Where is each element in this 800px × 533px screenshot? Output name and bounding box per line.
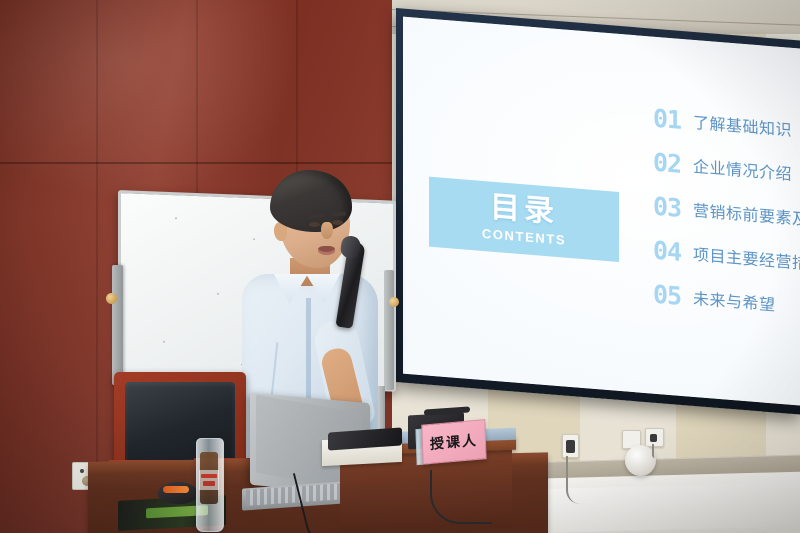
toc-number: 03 xyxy=(653,193,693,221)
mouth xyxy=(318,246,335,255)
slide-surface[interactable]: 目录 CONTENTS 01 了解基础知识 02 企业情况介绍 03 营销标前要… xyxy=(403,17,800,406)
computer-mouse[interactable] xyxy=(158,482,198,504)
eyebrow xyxy=(331,212,346,217)
wood-seam xyxy=(0,162,398,164)
projection-screen[interactable]: 目录 CONTENTS 01 了解基础知识 02 企业情况介绍 03 营销标前要… xyxy=(396,8,800,423)
nameplate-text: 授课人 xyxy=(430,430,479,454)
contents-banner: 目录 CONTENTS xyxy=(429,177,619,262)
toc-label: 了解基础知识 xyxy=(693,109,792,141)
table-of-contents: 01 了解基础知识 02 企业情况介绍 03 营销标前要素及流 04 项目主要经… xyxy=(653,99,800,334)
toc-number: 05 xyxy=(653,281,693,309)
wall-switch xyxy=(562,434,579,458)
eye xyxy=(332,220,343,225)
power-cable xyxy=(430,470,492,524)
whiteboard-rail xyxy=(112,265,123,385)
eye xyxy=(309,222,320,227)
toc-number: 04 xyxy=(653,237,693,265)
toc-number: 02 xyxy=(653,149,693,177)
bottle-label xyxy=(199,470,219,490)
power-cable xyxy=(652,444,655,458)
power-cable xyxy=(566,456,594,504)
contents-title-en: CONTENTS xyxy=(482,227,566,247)
toc-number: 01 xyxy=(653,105,693,133)
whiteboard-knob[interactable] xyxy=(106,293,117,304)
classroom-photo: 目录 CONTENTS 01 了解基础知识 02 企业情况介绍 03 营销标前要… xyxy=(0,0,800,533)
contents-title-cn: 目录 xyxy=(490,193,558,228)
nose xyxy=(321,222,333,239)
toc-label: 营销标前要素及流 xyxy=(693,197,800,232)
nameplate-card: 授课人 xyxy=(421,419,486,464)
toc-item-05[interactable]: 05 未来与希望 xyxy=(653,275,800,328)
toc-label: 项目主要经营措施 xyxy=(693,241,800,276)
nameplate: 授课人 xyxy=(421,419,484,466)
toc-label: 企业情况介绍 xyxy=(693,153,792,185)
toc-label: 未来与希望 xyxy=(693,285,776,316)
